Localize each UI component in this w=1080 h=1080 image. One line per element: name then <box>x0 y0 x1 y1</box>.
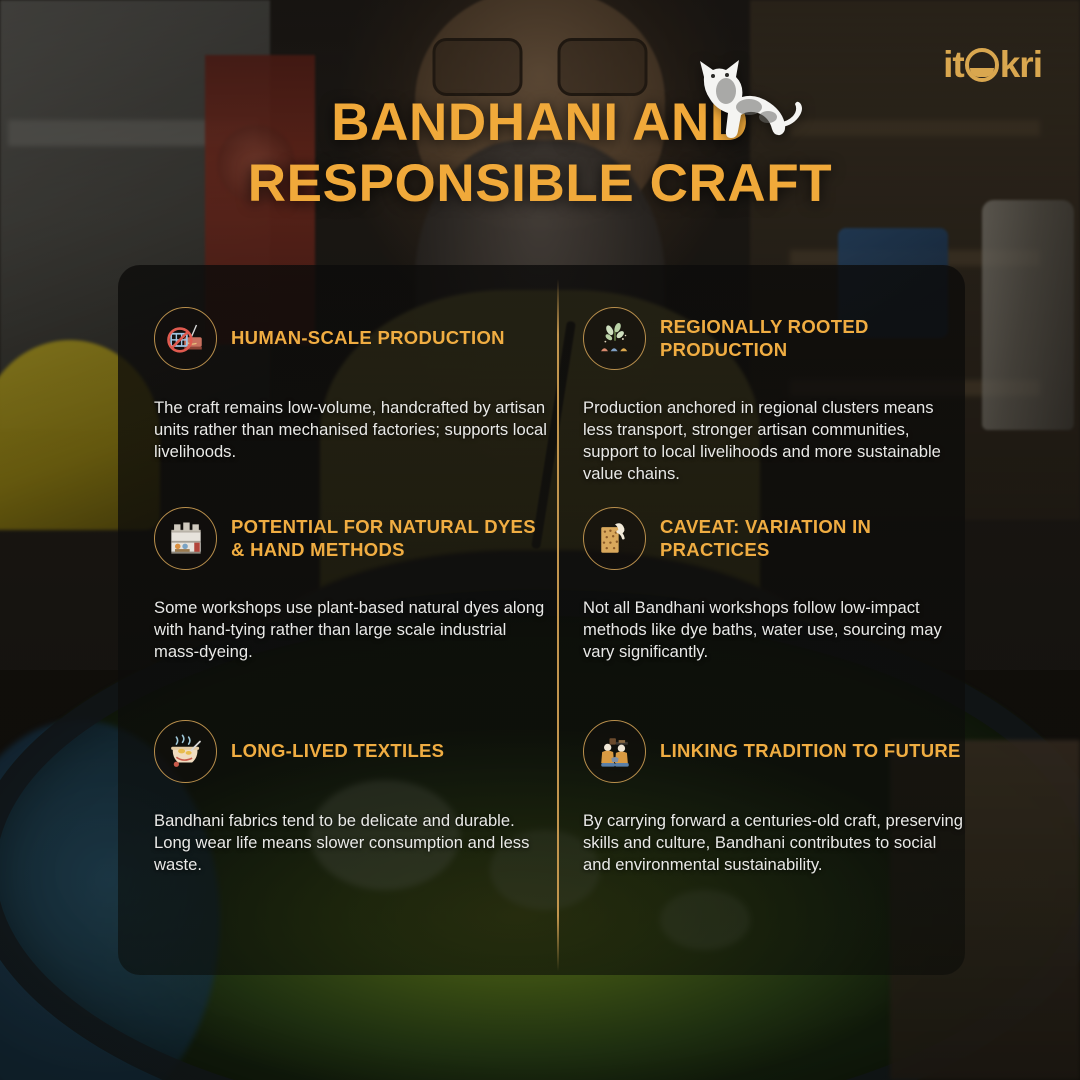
feature-item: HUMAN-SCALE PRODUCTION The craft remains… <box>154 307 554 463</box>
steaming-dye-pot-icon <box>154 720 217 783</box>
page-title-line-2: RESPONSIBLE CRAFT <box>0 153 1080 214</box>
feature-body: Not all Bandhani workshops follow low-im… <box>583 597 965 663</box>
content-panel: HUMAN-SCALE PRODUCTION The craft remains… <box>118 265 965 975</box>
brand-logo-bowl-o-icon <box>965 48 999 82</box>
feature-body: Production anchored in regional clusters… <box>583 397 965 485</box>
brand-logo[interactable]: itkri <box>943 44 1042 86</box>
column-divider <box>557 279 559 971</box>
brand-logo-it: it <box>943 44 964 86</box>
infographic-canvas: itkri BANDHANI AND RESPONSIBLE CRAFT <box>0 0 1080 1080</box>
feature-header: REGIONALLY ROOTED PRODUCTION <box>583 307 965 370</box>
feature-item: LONG-LIVED TEXTILES Bandhani fabrics ten… <box>154 720 554 876</box>
page-title: BANDHANI AND RESPONSIBLE CRAFT <box>0 92 1080 215</box>
artisan-workshop-building-icon <box>154 507 217 570</box>
feature-header: LINKING TRADITION TO FUTURE <box>583 720 965 783</box>
hand-holding-bandhani-fabric-icon <box>583 507 646 570</box>
no-factory-machine-icon <box>154 307 217 370</box>
feature-heading: REGIONALLY ROOTED PRODUCTION <box>660 316 965 361</box>
feature-heading: LINKING TRADITION TO FUTURE <box>660 740 961 763</box>
feature-header: LONG-LIVED TEXTILES <box>154 720 554 783</box>
cat-silhouette-icon <box>686 55 806 150</box>
brand-logo-kri: kri <box>1000 44 1042 86</box>
feature-header: HUMAN-SCALE PRODUCTION <box>154 307 554 370</box>
feature-body: By carrying forward a centuries-old craf… <box>583 810 965 876</box>
feature-body: The craft remains low-volume, handcrafte… <box>154 397 554 463</box>
feature-item: POTENTIAL FOR NATURAL DYES & HAND METHOD… <box>154 507 554 663</box>
feature-heading: LONG-LIVED TEXTILES <box>231 740 444 763</box>
feature-heading: POTENTIAL FOR NATURAL DYES & HAND METHOD… <box>231 516 554 561</box>
leaves-and-dye-powder-icon <box>583 307 646 370</box>
feature-item: CAVEAT: VARIATION IN PRACTICES Not all B… <box>583 507 965 663</box>
feature-body: Some workshops use plant-based natural d… <box>154 597 554 663</box>
two-artisans-working-icon <box>583 720 646 783</box>
feature-body: Bandhani fabrics tend to be delicate and… <box>154 810 554 876</box>
feature-item: LINKING TRADITION TO FUTURE By carrying … <box>583 720 965 876</box>
feature-header: POTENTIAL FOR NATURAL DYES & HAND METHOD… <box>154 507 554 570</box>
page-title-line-1: BANDHANI AND <box>0 92 1080 153</box>
feature-heading: CAVEAT: VARIATION IN PRACTICES <box>660 516 965 561</box>
feature-heading: HUMAN-SCALE PRODUCTION <box>231 327 505 350</box>
feature-item: REGIONALLY ROOTED PRODUCTION Production … <box>583 307 965 485</box>
feature-header: CAVEAT: VARIATION IN PRACTICES <box>583 507 965 570</box>
